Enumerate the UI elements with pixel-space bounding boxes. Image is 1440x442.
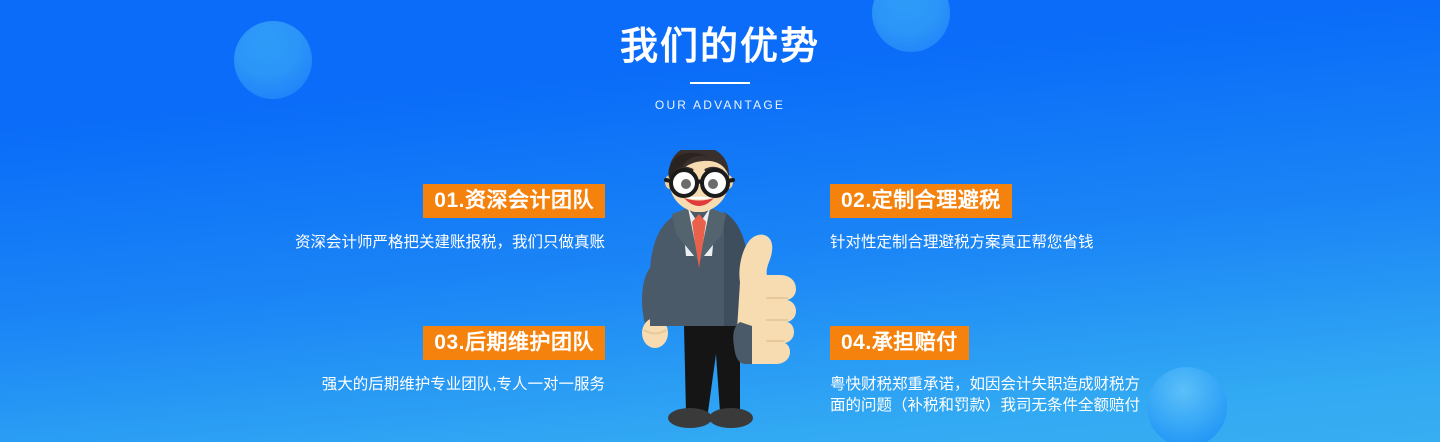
- title-divider: [690, 82, 750, 84]
- page-subtitle: OUR ADVANTAGE: [0, 98, 1440, 112]
- advantage-banner: 我们的优势 OUR ADVANTAGE 01.资深会计团队 资深会计师严格把关建…: [0, 0, 1440, 442]
- page-title: 我们的优势: [0, 0, 1440, 72]
- feature-desc-04: 粤快财税郑重承诺，如因会计失职造成财税方 面的问题（补税和罚款）我司无条件全额赔…: [830, 374, 1250, 416]
- feature-item-03: 03.后期维护团队 强大的后期维护专业团队,专人一对一服务: [205, 326, 605, 395]
- feature-item-04: 04.承担赔付 粤快财税郑重承诺，如因会计失职造成财税方 面的问题（补税和罚款）…: [830, 326, 1250, 416]
- feature-badge-01: 01.资深会计团队: [423, 184, 605, 218]
- feature-item-02: 02.定制合理避税 针对性定制合理避税方案真正帮您省钱: [830, 184, 1250, 253]
- feature-badge-04: 04.承担赔付: [830, 326, 969, 360]
- banner-header: 我们的优势 OUR ADVANTAGE: [0, 0, 1440, 112]
- feature-desc-04-line1: 粤快财税郑重承诺，如因会计失职造成财税方: [830, 374, 1250, 395]
- feature-desc-04-line2: 面的问题（补税和罚款）我司无条件全额赔付: [830, 395, 1250, 416]
- feature-badge-02: 02.定制合理避税: [830, 184, 1012, 218]
- feature-badge-03: 03.后期维护团队: [423, 326, 605, 360]
- feature-desc-02: 针对性定制合理避税方案真正帮您省钱: [830, 232, 1250, 253]
- feature-desc-01: 资深会计师严格把关建账报税，我们只做真账: [205, 232, 605, 253]
- feature-item-01: 01.资深会计团队 资深会计师严格把关建账报税，我们只做真账: [205, 184, 605, 253]
- businessman-thumbs-up-illustration: [628, 150, 818, 442]
- feature-desc-03: 强大的后期维护专业团队,专人一对一服务: [205, 374, 605, 395]
